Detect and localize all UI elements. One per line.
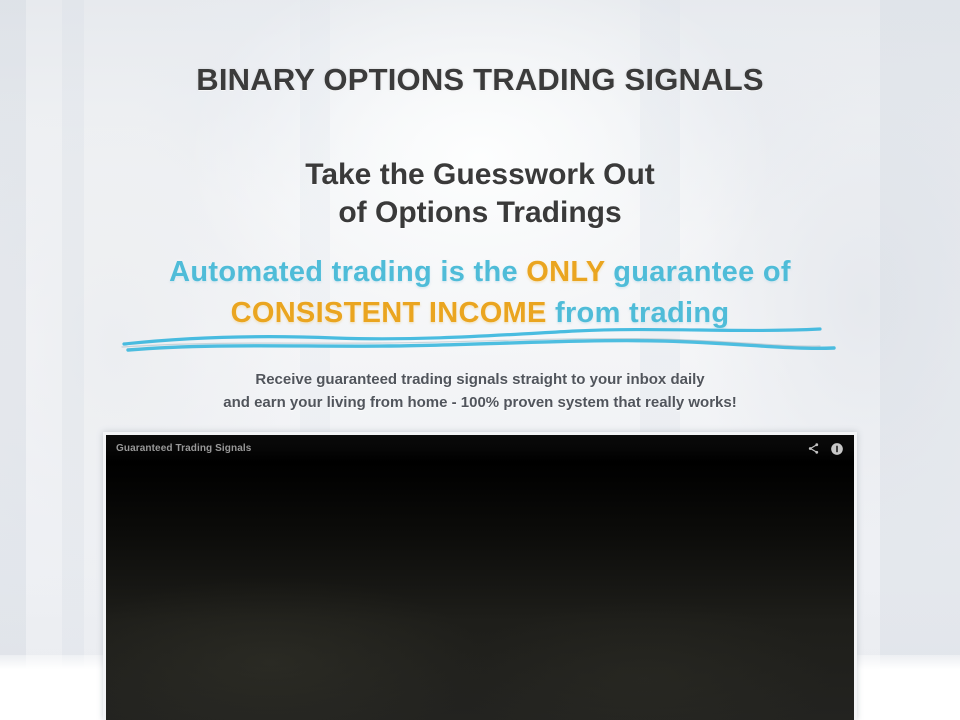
video-title: Guaranteed Trading Signals — [116, 443, 798, 454]
share-icon[interactable] — [804, 440, 822, 458]
subheadline-line-2: of Options Tradings — [0, 194, 960, 232]
page-title: BINARY OPTIONS TRADING SIGNALS — [0, 62, 960, 98]
subheadline: Take the Guesswork Out of Options Tradin… — [0, 156, 960, 233]
promo-video-frame: BINARY OPTIONS TRADING SIGNALS Take the … — [0, 0, 960, 720]
slide-content: BINARY OPTIONS TRADING SIGNALS Take the … — [0, 0, 960, 720]
body-copy-line-1: Receive guaranteed trading signals strai… — [255, 371, 704, 388]
info-icon[interactable] — [828, 440, 846, 458]
promo-emphasis-only: ONLY — [526, 256, 605, 288]
body-copy-line-2: and earn your living from home - 100% pr… — [0, 391, 960, 414]
video-player[interactable]: Guaranteed Trading Signals — [103, 432, 857, 720]
video-player-titlebar: Guaranteed Trading Signals — [106, 435, 854, 462]
video-viewport[interactable] — [106, 462, 854, 720]
subheadline-line-1: Take the Guesswork Out — [305, 158, 655, 191]
promo-line-1-text-b: guarantee of — [605, 256, 791, 288]
promo-line-2-text-b: from trading — [547, 297, 730, 329]
promo-line-1: Automated trading is the ONLY guarantee … — [0, 252, 960, 293]
promo-line-2: CONSISTENT INCOME from trading — [0, 293, 960, 334]
body-copy: Receive guaranteed trading signals strai… — [0, 368, 960, 415]
promo-line-1-text-a: Automated trading is the — [169, 256, 526, 288]
promo-statement: Automated trading is the ONLY guarantee … — [0, 252, 960, 334]
promo-emphasis-consistent-income: CONSISTENT INCOME — [231, 297, 547, 329]
